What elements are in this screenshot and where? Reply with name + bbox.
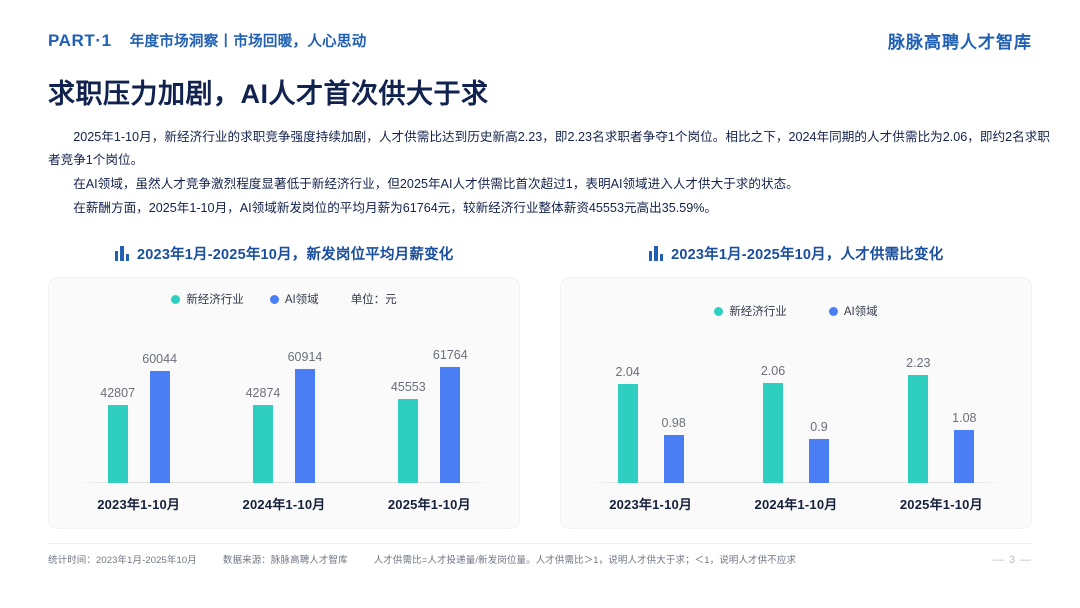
bar-group-2024: 2.06 0.9 [723, 313, 868, 483]
slide-page: PART·1 年度市场洞察丨市场回暖，人心思动 脉脉高聘人才智库 求职压力加剧，… [0, 0, 1080, 608]
header-left-group: PART·1 年度市场洞察丨市场回暖，人心思动 [48, 30, 367, 51]
brand-logo-text: 脉脉高聘人才智库 [888, 28, 1032, 53]
bar-wrap-2024-ai: 60914 [295, 313, 315, 483]
x-axis-labels-salary: 2023年1-10月 2024年1-10月 2025年1-10月 [66, 494, 502, 513]
bar-2025-ai [440, 367, 460, 483]
footnote-definition: 人才供需比=人才投递量/新发岗位量。人才供需比＞1，说明人才供大于求；＜1，说明… [374, 552, 796, 566]
chart-title-salary: 2023年1月-2025年10月，新发岗位平均月薪变化 [137, 243, 453, 264]
bar-wrap-2023-new-economy: 2.04 [618, 313, 638, 483]
part-label: PART·1 [48, 31, 112, 51]
bar-value-2024-new-economy: 2.06 [761, 364, 785, 378]
bar-value-2025-ai: 1.08 [952, 411, 976, 425]
chart-card-ratio: 新经济行业 AI领域 2.04 [560, 277, 1032, 529]
bar-2024-ai [809, 439, 829, 483]
bar-wrap-2023-ai: 60044 [150, 313, 170, 483]
bar-group-2025: 2.23 1.08 [869, 313, 1014, 483]
bar-2023-new-economy [108, 405, 128, 483]
chart-heading-salary: 2023年1月-2025年10月，新发岗位平均月薪变化 [48, 241, 520, 265]
bar-wrap-2024-new-economy: 2.06 [763, 313, 783, 483]
x-label-2025: 2025年1-10月 [869, 494, 1014, 513]
charts-row: 2023年1月-2025年10月，新发岗位平均月薪变化 新经济行业 AI领域 单… [48, 241, 1032, 536]
chart-title-ratio: 2023年1月-2025年10月，人才供需比变化 [671, 243, 943, 264]
bar-2024-ai [295, 369, 315, 483]
bar-value-2025-ai: 61764 [433, 348, 468, 362]
footnote-source: 数据来源：脉脉高聘人才智库 [223, 552, 348, 566]
bar-2023-ai [664, 435, 684, 483]
bar-wrap-2024-new-economy: 42874 [253, 313, 273, 483]
bar-group-2023: 42807 60044 [66, 313, 211, 483]
x-label-2023: 2023年1-10月 [66, 494, 211, 513]
bar-wrap-2025-ai: 61764 [440, 313, 460, 483]
page-title: 求职压力加剧，AI人才首次供大于求 [48, 72, 489, 111]
paragraph-2: 在AI领域，虽然人才竞争激烈程度显著低于新经济行业，但2025年AI人才供需比首… [48, 173, 1050, 196]
chart-block-ratio: 2023年1月-2025年10月，人才供需比变化 新经济行业 AI领域 [560, 241, 1032, 536]
bar-value-2024-new-economy: 42874 [246, 386, 281, 400]
bar-value-2024-ai: 0.9 [810, 420, 827, 434]
bar-group-2023: 2.04 0.98 [578, 313, 723, 483]
chart-unit-label: 单位：元 [351, 291, 397, 307]
bar-chart-icon [649, 246, 664, 261]
bar-value-2025-new-economy: 45553 [391, 380, 426, 394]
paragraph-3: 在薪酬方面，2025年1-10月，AI领域新发岗位的平均月薪为61764元，较新… [48, 197, 1050, 220]
chart-heading-ratio: 2023年1月-2025年10月，人才供需比变化 [560, 241, 1032, 265]
x-label-2025: 2025年1-10月 [357, 494, 502, 513]
x-label-2023: 2023年1-10月 [578, 494, 723, 513]
bar-2025-new-economy [908, 375, 928, 483]
bar-2024-new-economy [763, 383, 783, 483]
footer-divider [48, 543, 1032, 544]
chart-block-salary: 2023年1月-2025年10月，新发岗位平均月薪变化 新经济行业 AI领域 单… [48, 241, 520, 536]
paragraph-1: 2025年1-10月，新经济行业的求职竞争强度持续加剧，人才供需比达到历史新高2… [48, 126, 1050, 172]
bar-2025-ai [954, 430, 974, 483]
bar-group-2024: 42874 60914 [211, 313, 356, 483]
bar-value-2025-new-economy: 2.23 [906, 356, 930, 370]
body-copy: 2025年1-10月，新经济行业的求职竞争强度持续加剧，人才供需比达到历史新高2… [48, 126, 1050, 221]
plot-area-ratio: 2.04 0.98 2.06 [578, 313, 1014, 483]
chart-legend-salary: 新经济行业 AI领域 单位：元 [48, 291, 520, 307]
bar-wrap-2025-new-economy: 45553 [398, 313, 418, 483]
legend-item-ai: AI领域 [270, 291, 319, 307]
legend-label-ai: AI领域 [285, 291, 319, 307]
bar-value-2023-ai: 60044 [142, 352, 177, 366]
page-number: — 3 — [993, 554, 1032, 566]
part-subtitle: 年度市场洞察丨市场回暖，人心思动 [130, 30, 367, 51]
page-header: PART·1 年度市场洞察丨市场回暖，人心思动 脉脉高聘人才智库 [48, 26, 1032, 54]
legend-dot-new-economy [171, 295, 180, 304]
plot-area-salary: 42807 60044 42874 [66, 313, 502, 483]
bar-2023-new-economy [618, 384, 638, 483]
legend-dot-ai [270, 295, 279, 304]
x-label-2024: 2024年1-10月 [723, 494, 868, 513]
bar-2025-new-economy [398, 399, 418, 483]
bar-wrap-2023-new-economy: 42807 [108, 313, 128, 483]
footnote-period: 统计时间：2023年1月-2025年10月 [48, 552, 197, 566]
footnote: 统计时间：2023年1月-2025年10月 数据来源：脉脉高聘人才智库 人才供需… [48, 552, 796, 566]
bar-wrap-2025-new-economy: 2.23 [908, 313, 928, 483]
bar-chart-icon [115, 246, 130, 261]
x-axis-labels-ratio: 2023年1-10月 2024年1-10月 2025年1-10月 [578, 494, 1014, 513]
bar-value-2024-ai: 60914 [288, 350, 323, 364]
bar-groups-salary: 42807 60044 42874 [66, 313, 502, 483]
bar-wrap-2025-ai: 1.08 [954, 313, 974, 483]
bar-wrap-2024-ai: 0.9 [809, 313, 829, 483]
bar-2023-ai [150, 371, 170, 483]
x-label-2024: 2024年1-10月 [211, 494, 356, 513]
bar-group-2025: 45553 61764 [357, 313, 502, 483]
bar-groups-ratio: 2.04 0.98 2.06 [578, 313, 1014, 483]
bar-value-2023-ai: 0.98 [661, 416, 685, 430]
legend-label-new-economy: 新经济行业 [186, 291, 244, 307]
bar-2024-new-economy [253, 405, 273, 483]
bar-value-2023-new-economy: 42807 [100, 386, 135, 400]
bar-value-2023-new-economy: 2.04 [615, 365, 639, 379]
bar-wrap-2023-ai: 0.98 [664, 313, 684, 483]
chart-card-salary: 新经济行业 AI领域 单位：元 42807 [48, 277, 520, 529]
legend-item-new-economy: 新经济行业 [171, 291, 244, 307]
